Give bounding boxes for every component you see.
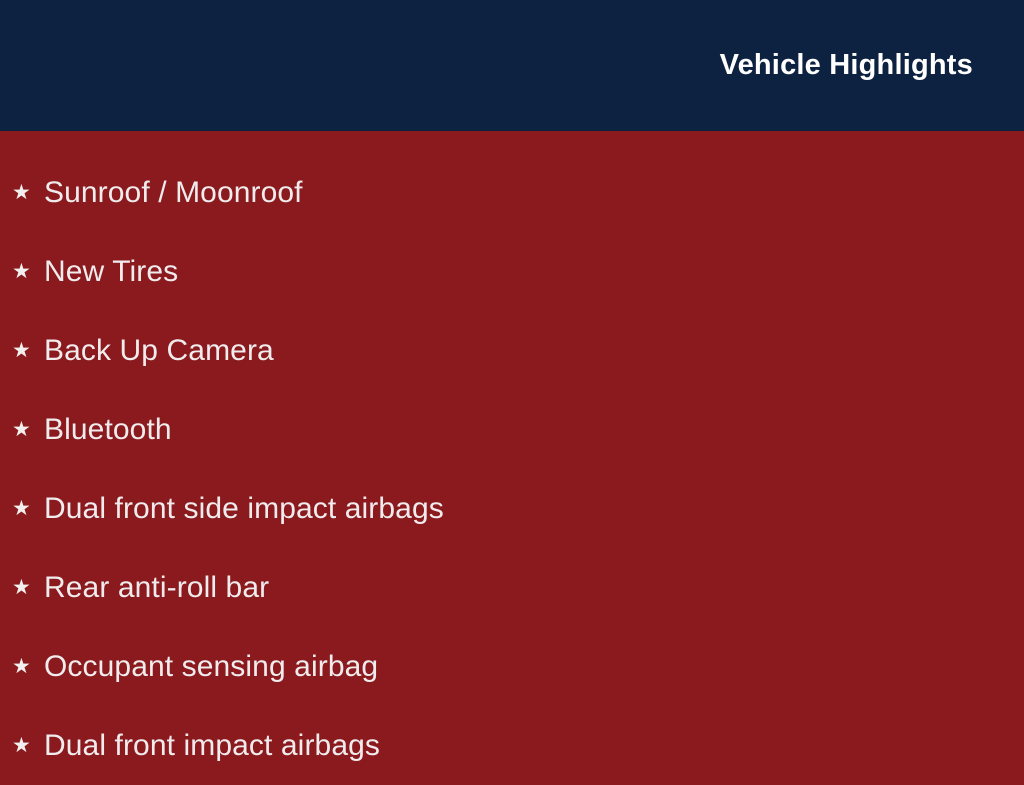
highlight-label: Sunroof / Moonroof	[44, 176, 303, 209]
highlight-label: Occupant sensing airbag	[44, 650, 378, 683]
highlight-label: Bluetooth	[44, 413, 172, 446]
vehicle-highlights-list: ★ Sunroof / Moonroof ★ New Tires ★ Back …	[0, 153, 1024, 785]
slide-header: Vehicle Highlights	[0, 0, 1024, 131]
star-icon: ★	[12, 419, 44, 440]
slide-body: ★ Sunroof / Moonroof ★ New Tires ★ Back …	[0, 131, 1024, 785]
highlight-label: Dual front impact airbags	[44, 729, 380, 762]
star-icon: ★	[12, 577, 44, 598]
list-item: ★ Back Up Camera	[0, 311, 1024, 390]
highlight-label: New Tires	[44, 255, 178, 288]
star-icon: ★	[12, 182, 44, 203]
list-item: ★ Bluetooth	[0, 390, 1024, 469]
star-icon: ★	[12, 261, 44, 282]
list-item: ★ Dual front side impact airbags	[0, 469, 1024, 548]
star-icon: ★	[12, 656, 44, 677]
star-icon: ★	[12, 498, 44, 519]
highlight-label: Dual front side impact airbags	[44, 492, 444, 525]
list-item: ★ Sunroof / Moonroof	[0, 153, 1024, 232]
highlight-label: Back Up Camera	[44, 334, 274, 367]
list-item: ★ Rear anti-roll bar	[0, 548, 1024, 627]
highlight-label: Rear anti-roll bar	[44, 571, 269, 604]
vehicle-highlights-slide: Vehicle Highlights ★ Sunroof / Moonroof …	[0, 0, 1024, 768]
list-item: ★ Occupant sensing airbag	[0, 627, 1024, 706]
list-item: ★ Dual front impact airbags	[0, 706, 1024, 785]
page-title: Vehicle Highlights	[720, 51, 973, 80]
list-item: ★ New Tires	[0, 232, 1024, 311]
star-icon: ★	[12, 735, 44, 756]
star-icon: ★	[12, 340, 44, 361]
